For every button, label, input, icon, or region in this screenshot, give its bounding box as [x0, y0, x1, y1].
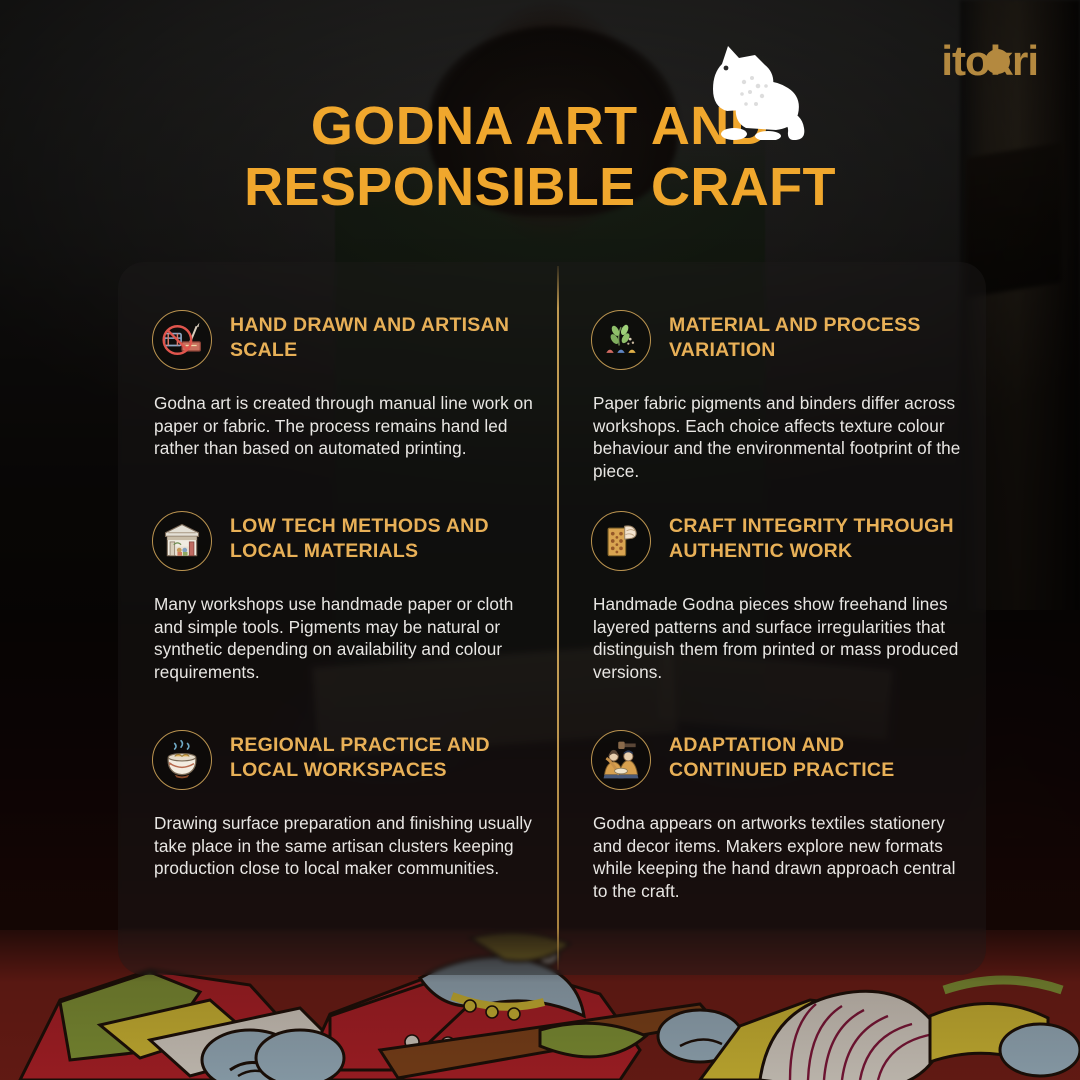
feature-title: REGIONAL PRACTICE AND LOCAL WORKSPACES: [230, 728, 536, 782]
feature-header: LOW TECH METHODS AND LOCAL MATERIALS: [152, 463, 536, 571]
feature-title: ADAPTATION AND CONTINUED PRACTICE: [669, 728, 968, 782]
no-printing-machine-icon: [152, 310, 212, 370]
feature-header: REGIONAL PRACTICE AND LOCAL WORKSPACES: [152, 678, 536, 790]
feature-item-6: ADAPTATION AND CONTINUED PRACTICE Godna …: [558, 678, 986, 975]
feature-body: Drawing surface preparation and finishin…: [152, 812, 536, 880]
steaming-dye-pot-icon: [152, 730, 212, 790]
feature-item-2: MATERIAL AND PROCESS VARIATION Paper fab…: [558, 262, 986, 463]
feature-title: HAND DRAWN AND ARTISAN SCALE: [230, 308, 536, 362]
leaves-and-pigments-icon: [591, 310, 651, 370]
workshop-building-icon: [152, 511, 212, 571]
feature-body: Godna art is created through manual line…: [152, 392, 536, 460]
feature-body: Godna appears on artworks textiles stati…: [591, 812, 968, 903]
feature-item-5: REGIONAL PRACTICE AND LOCAL WORKSPACES D…: [118, 678, 558, 975]
feature-header: HAND DRAWN AND ARTISAN SCALE: [152, 262, 536, 370]
infographic-poster: itokri GODNA ART AND RESPONSIBLE CRAFT: [0, 0, 1080, 1080]
page-title: GODNA ART AND RESPONSIBLE CRAFT: [0, 96, 1080, 218]
feature-header: MATERIAL AND PROCESS VARIATION: [591, 262, 968, 370]
feature-body: Many workshops use handmade paper or clo…: [152, 593, 536, 684]
feature-title: MATERIAL AND PROCESS VARIATION: [669, 308, 968, 362]
feature-item-1: HAND DRAWN AND ARTISAN SCALE Godna art i…: [118, 262, 558, 463]
page-title-line-1: GODNA ART AND: [0, 96, 1080, 157]
feature-item-3: LOW TECH METHODS AND LOCAL MATERIALS Man…: [118, 463, 558, 678]
hand-holding-patterned-fabric-icon: [591, 511, 651, 571]
feature-header: ADAPTATION AND CONTINUED PRACTICE: [591, 678, 968, 790]
features-grid: HAND DRAWN AND ARTISAN SCALE Godna art i…: [118, 262, 986, 975]
feature-header: CRAFT INTEGRITY THROUGH AUTHENTIC WORK: [591, 463, 968, 571]
feature-body: Handmade Godna pieces show freehand line…: [591, 593, 968, 684]
feature-item-4: CRAFT INTEGRITY THROUGH AUTHENTIC WORK H…: [558, 463, 986, 678]
feature-title: LOW TECH METHODS AND LOCAL MATERIALS: [230, 509, 536, 563]
two-seated-artisans-icon: [591, 730, 651, 790]
cat-motif-icon: [700, 42, 816, 140]
brand-logo[interactable]: itokri: [941, 40, 1038, 82]
feature-title: CRAFT INTEGRITY THROUGH AUTHENTIC WORK: [669, 509, 968, 563]
page-title-line-2: RESPONSIBLE CRAFT: [0, 157, 1080, 218]
